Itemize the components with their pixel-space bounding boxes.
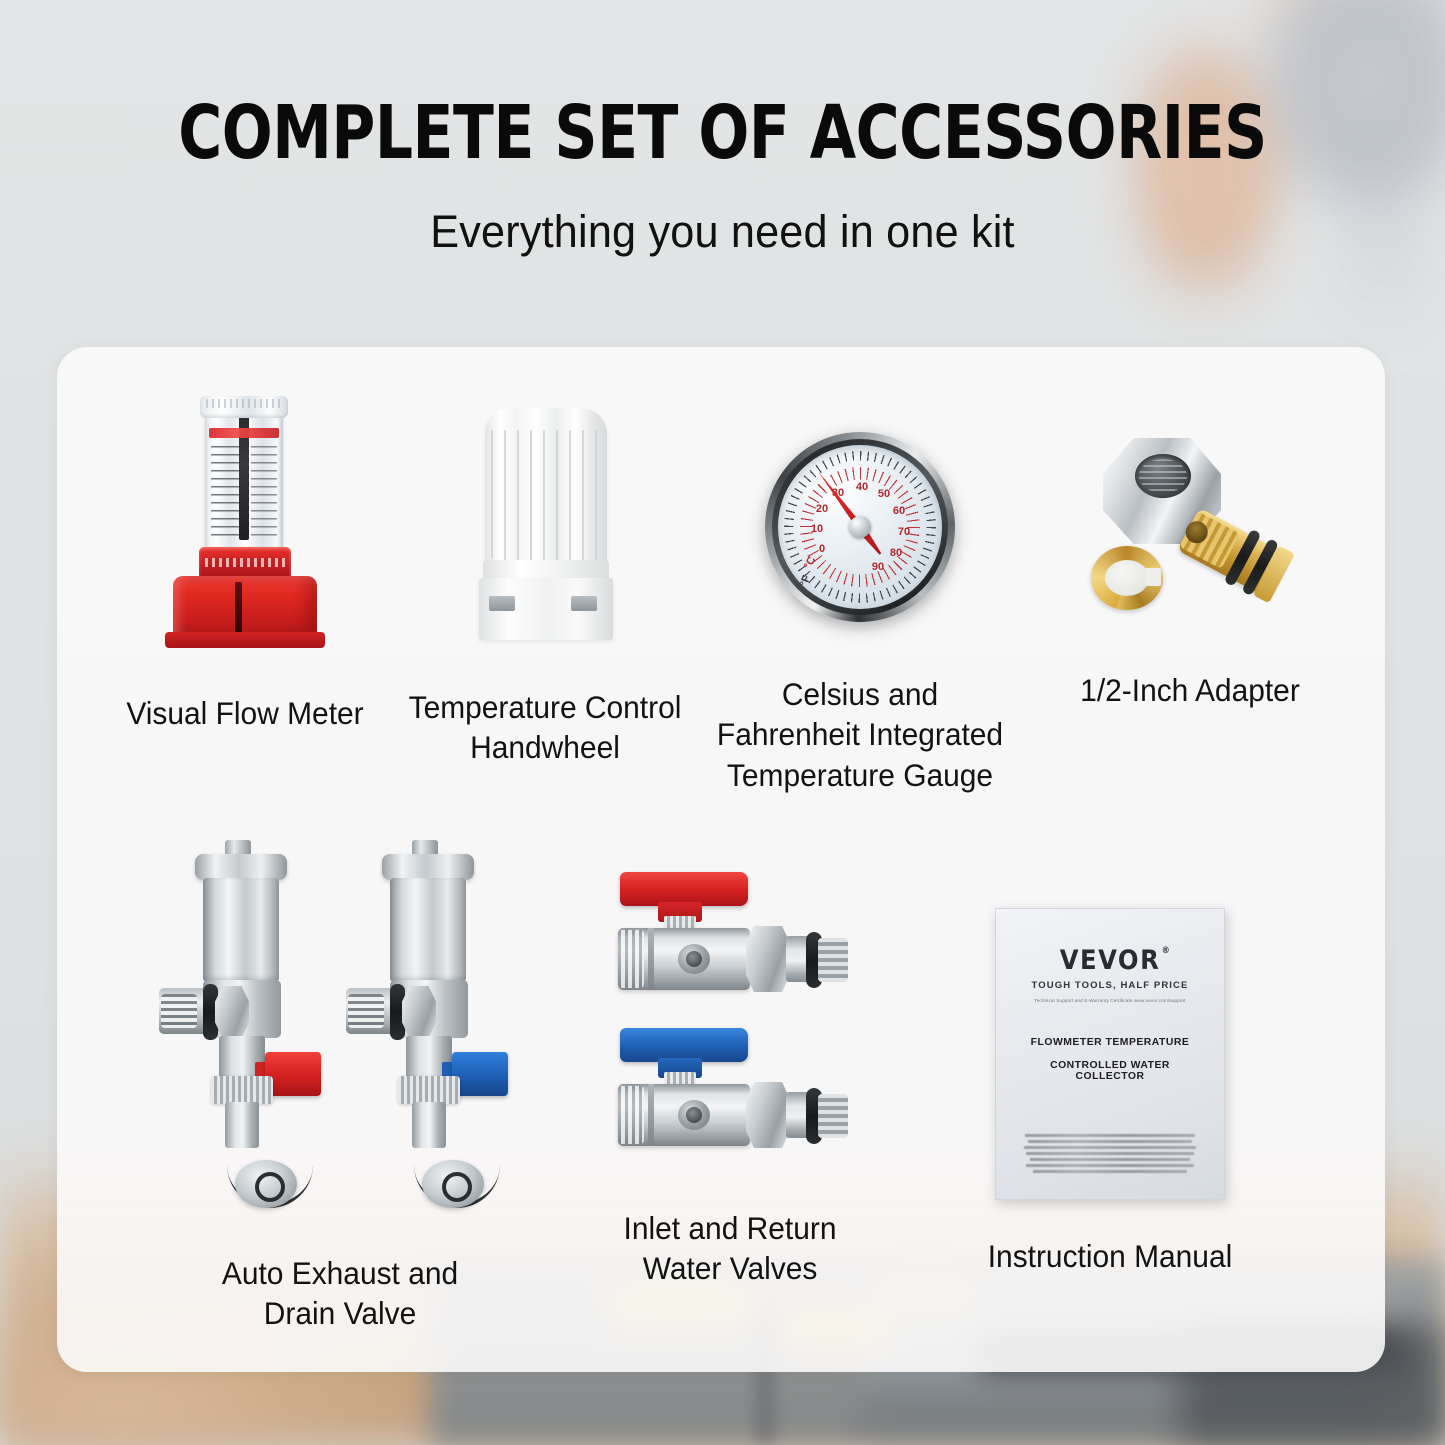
ball-valve-male-thread [818, 938, 848, 982]
ball-valve-union-nut [746, 926, 790, 992]
exhaust-valve-knurled-nut [211, 1076, 273, 1104]
manual-title-line2: CONTROLLED WATER COLLECTOR [1016, 1060, 1204, 1082]
handwheel-slot-left [489, 596, 515, 611]
ball-valve-blue-lever[interactable] [620, 1028, 748, 1062]
manual-tagline: TOUGH TOOLS, HALF PRICE [1016, 980, 1204, 991]
accessory-temperature-control-handwheel[interactable]: Temperature Control Handwheel [395, 400, 695, 795]
flow-meter-red-marker [209, 428, 279, 438]
exhaust-valve-knurled-nut [398, 1076, 460, 1104]
accessory-label: 1/2-Inch Adapter [1048, 670, 1333, 710]
exhaust-valve-tethered-cap [235, 1160, 297, 1208]
vevor-wordmark: VEVOR [1060, 945, 1161, 976]
ball-valve-female-thread [618, 930, 644, 988]
ball-valve-icon [610, 872, 850, 1156]
exhaust-valve-hex-nut [402, 986, 436, 1038]
ball-valve-blue [610, 1028, 850, 1156]
ball-valve-red [610, 872, 850, 1000]
ball-valve-test-port [678, 1100, 710, 1130]
flow-meter-collar [199, 547, 291, 579]
air-vent-valve-icon [159, 840, 521, 1215]
adapter-fitting-icon [1085, 428, 1295, 628]
ball-valve-ring [648, 1084, 654, 1146]
accessory-label: Instruction Manual [953, 1236, 1267, 1276]
registered-mark: ® [1162, 946, 1172, 956]
gauge-face: 0 10 20 30 40 50 60 70 80 90 °C °F [778, 445, 942, 609]
manual-support-line: Technical Support and E-Warranty Certifi… [1016, 998, 1204, 1003]
manual-title-line1: FLOWMETER TEMPERATURE [1016, 1037, 1204, 1048]
accessory-visual-flow-meter[interactable]: Visual Flow Meter [95, 400, 395, 795]
ball-valve-ring [648, 928, 654, 990]
flow-meter-icon [155, 400, 335, 645]
flow-meter-foot [165, 632, 325, 648]
exhaust-valve-top-cap [382, 854, 474, 880]
booklet-icon: VEVOR® TOUGH TOOLS, HALF PRICE Technical… [995, 908, 1225, 1200]
adapter-brass-split-ring [1091, 546, 1163, 610]
handwheel-neck [483, 560, 609, 580]
ball-valve-test-port [678, 944, 710, 974]
flow-meter-scale-left [211, 446, 241, 538]
accessory-label: Celsius and Fahrenheit Integrated Temper… [708, 674, 1012, 795]
exhaust-valve-hex-nut [215, 986, 249, 1038]
dial-gauge-icon: 0 10 20 30 40 50 60 70 80 90 °C °F [765, 432, 955, 622]
exhaust-valve-tethered-cap [422, 1160, 484, 1208]
ball-valve-male-thread [818, 1094, 848, 1138]
exhaust-valve-top-cap [195, 854, 287, 880]
page-title: COMPLETE SET OF ACCESSORIES [72, 96, 1373, 170]
adapter-threaded-bore [1135, 454, 1191, 498]
accessory-label: Temperature Control Handwheel [407, 687, 683, 768]
flow-meter-cap [200, 396, 288, 418]
exhaust-valve-barrel [203, 878, 279, 982]
accessory-label: Inlet and Return Water Valves [588, 1208, 873, 1289]
gauge-hub [849, 516, 871, 538]
exhaust-valve-red-lever[interactable] [265, 1052, 321, 1096]
handwheel-slot-right [571, 596, 597, 611]
accessory-label: Auto Exhaust and Drain Valve [198, 1253, 483, 1334]
accessory-auto-exhaust-drain-valve[interactable]: Auto Exhaust and Drain Valve [150, 840, 530, 1334]
exhaust-valve-drain-spout [412, 1102, 446, 1148]
accessory-half-inch-adapter[interactable]: 1/2-Inch Adapter [1025, 400, 1355, 795]
background-person [1135, 0, 1445, 380]
accessory-instruction-manual[interactable]: VEVOR® TOUGH TOOLS, HALF PRICE Technical… [930, 908, 1290, 1276]
accessory-temperature-gauge[interactable]: 0 10 20 30 40 50 60 70 80 90 °C °F [695, 400, 1025, 795]
ball-valve-female-thread [618, 1086, 644, 1144]
vevor-logo: VEVOR® [1060, 945, 1161, 976]
accessory-inlet-return-water-valves[interactable]: Inlet and Return Water Valves [530, 872, 930, 1289]
exhaust-valve-barrel [390, 878, 466, 982]
flow-meter-scale-right [251, 446, 277, 538]
manual-fine-print [1016, 1134, 1204, 1173]
ball-valve-red-lever[interactable] [620, 872, 748, 906]
manual-cover: VEVOR® TOUGH TOOLS, HALF PRICE Technical… [995, 908, 1225, 1200]
exhaust-valve-blue-lever[interactable] [452, 1052, 508, 1096]
page-subtitle: Everything you need in one kit [29, 206, 1416, 258]
exhaust-valve-blue [346, 840, 521, 1215]
handwheel-ribs [491, 430, 601, 560]
ball-valve-union-nut [746, 1082, 790, 1148]
exhaust-valve-red [159, 840, 334, 1215]
accessory-label: Visual Flow Meter [112, 693, 378, 733]
exhaust-valve-drain-spout [225, 1102, 259, 1148]
handwheel-icon [455, 408, 635, 640]
